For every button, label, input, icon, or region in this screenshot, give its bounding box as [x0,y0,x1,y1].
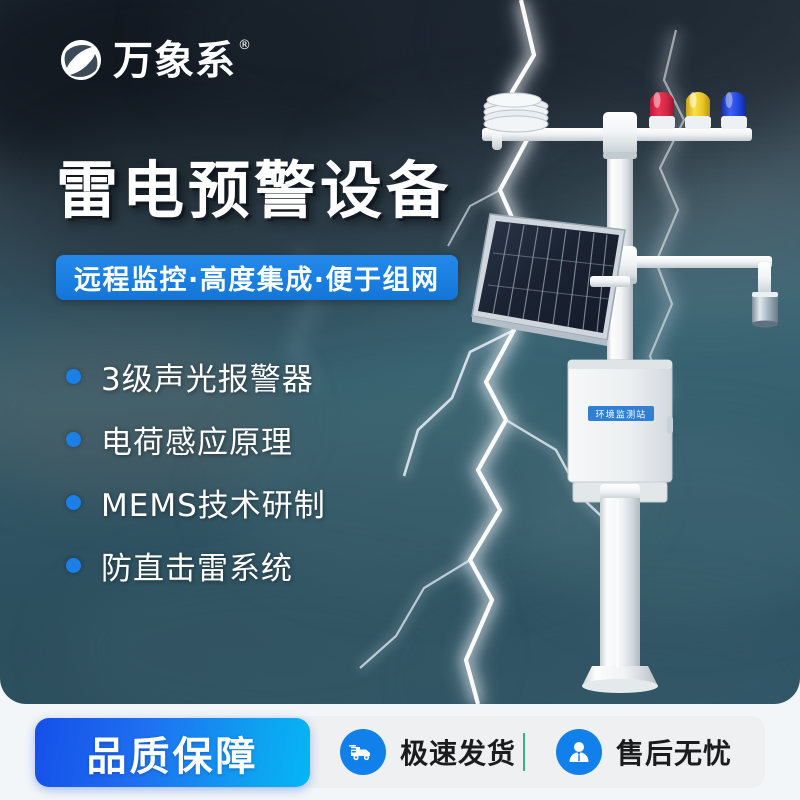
trust-item-label: 极速发货 [400,732,516,772]
solar-panel [472,214,630,346]
controller-box: 环境监测站 [568,360,673,502]
trust-item-shipping[interactable]: 极速发货 [340,729,516,775]
trust-bar: 品质保障 极速发货 [0,716,800,788]
registered-trademark-icon: ® [238,39,252,52]
page-title: 雷电预警设备 [56,158,452,223]
trust-item-service[interactable]: 售后无忧 [556,729,732,775]
box-latch [667,416,673,434]
bullet-dot-icon [66,495,81,510]
delivery-truck-icon [340,729,386,775]
swoosh-globe-icon [58,38,104,84]
weather-station-product-image: 环境监测站 [440,80,800,704]
bullet-dot-icon [66,558,81,573]
device-label-text: 环境监测站 [595,409,646,421]
brand-name: 万象系 ® [113,41,236,81]
bullet-dot-icon [66,432,81,447]
collar-ring [603,152,637,159]
brand-name-text: 万象系 [113,38,236,84]
support-agent-icon [556,729,602,775]
base-plate [582,484,658,693]
feature-label: 防直击雷系统 [101,543,293,588]
quality-guarantee-tag[interactable]: 品质保障 [35,718,310,787]
subtitle-text: 远程监控·高度集成·便于组网 [74,258,440,297]
feature-item: 防直击雷系统 [66,534,466,597]
feature-item: 3级声光报警器 [66,345,466,408]
feature-item: MEMS技术研制 [66,471,466,534]
feature-label: MEMS技术研制 [101,480,326,525]
pole-top-collar [603,112,637,156]
trust-item-label: 售后无忧 [616,732,732,772]
alarm-beacon-blue [721,92,747,129]
feature-list: 3级声光报警器 电荷感应原理 MEMS技术研制 防直击雷系统 [66,345,466,597]
hero-banner: 万象系 ® 雷电预警设备 远程监控·高度集成·便于组网 3级声光报警器 电荷感应… [0,0,800,704]
brand-logo[interactable]: 万象系 ® [58,38,236,84]
subtitle-badge: 远程监控·高度集成·便于组网 [56,255,458,300]
product-banner-page: 万象系 ® 雷电预警设备 远程监控·高度集成·便于组网 3级声光报警器 电荷感应… [0,0,800,800]
feature-label: 3级声光报警器 [101,354,314,399]
alarm-beacon-red [649,92,675,129]
bullet-dot-icon [66,369,81,384]
rain-sensor [752,292,778,328]
trust-divider [523,733,525,771]
quality-guarantee-label: 品质保障 [87,724,259,782]
radiation-shield-sensor [484,93,548,150]
feature-item: 电荷感应原理 [66,408,466,471]
alarm-beacon-yellow [685,92,711,129]
feature-label: 电荷感应原理 [101,417,293,462]
